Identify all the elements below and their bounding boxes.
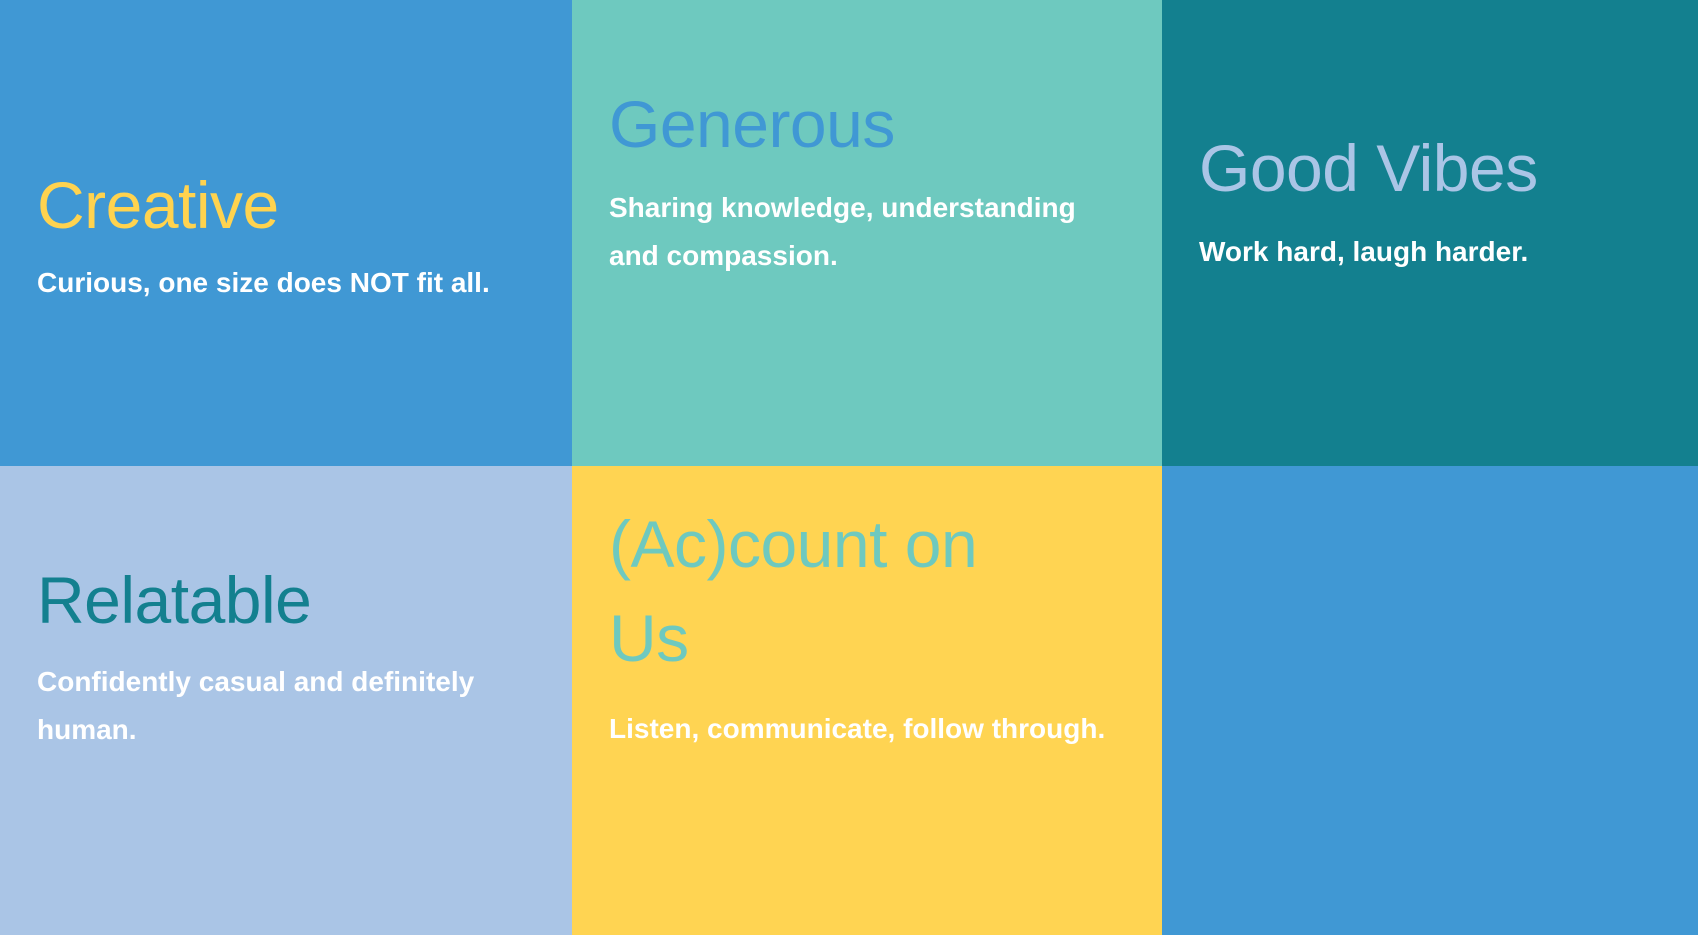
tile-title-generous: Generous [609,78,1120,172]
values-grid: Creative Curious, one size does NOT fit … [0,0,1698,935]
tile-description-creative: Curious, one size does NOT fit all. [37,259,530,307]
tile-title-good-vibes: Good Vibes [1199,122,1656,216]
value-tile-empty [1162,466,1698,935]
tile-title-relatable: Relatable [37,554,530,648]
value-tile-account-on-us[interactable]: (Ac)count on Us Listen, communicate, fol… [572,466,1162,935]
tile-description-relatable: Confidently casual and definitely human. [37,658,530,754]
value-tile-generous[interactable]: Generous Sharing knowledge, understandin… [572,0,1162,466]
value-tile-creative[interactable]: Creative Curious, one size does NOT fit … [0,0,572,466]
tile-title-account-on-us: (Ac)count on Us [609,498,1029,685]
tile-description-good-vibes: Work hard, laugh harder. [1199,228,1656,276]
tile-title-creative: Creative [37,159,530,253]
tile-description-account-on-us: Listen, communicate, follow through. [609,705,1120,753]
value-tile-good-vibes[interactable]: Good Vibes Work hard, laugh harder. [1162,0,1698,466]
value-tile-relatable[interactable]: Relatable Confidently casual and definit… [0,466,572,935]
tile-description-generous: Sharing knowledge, understanding and com… [609,184,1120,280]
